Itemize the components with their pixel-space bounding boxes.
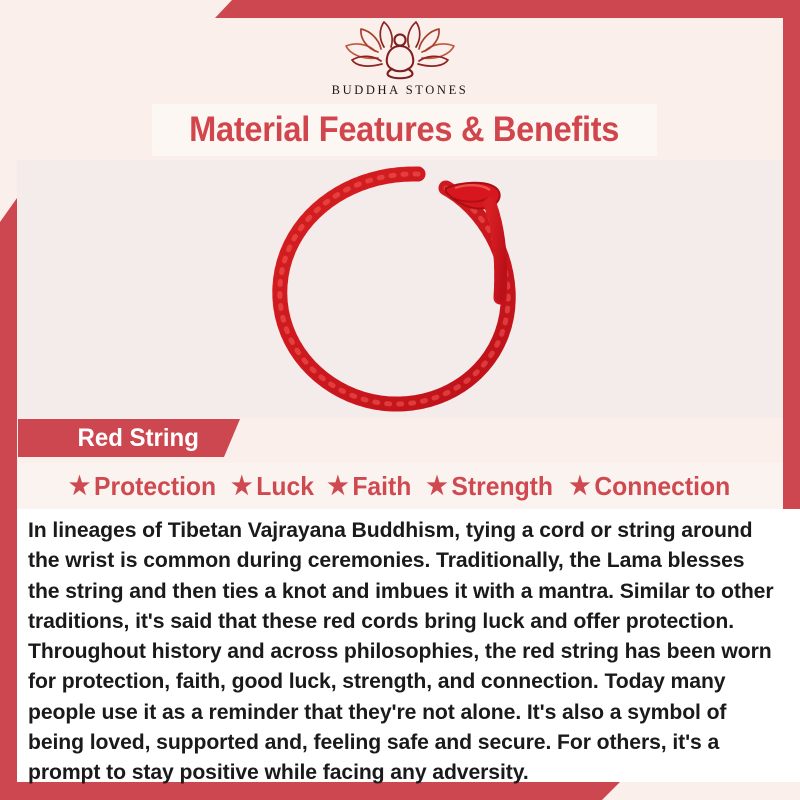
star-icon: ★ [328, 474, 349, 499]
description-panel: In lineages of Tibetan Vajrayana Buddhis… [17, 509, 800, 782]
benefit-item-4: ★ Connection [570, 471, 731, 502]
star-icon: ★ [570, 474, 591, 499]
infographic-page: BUDDHA STONES Material Features & Benefi… [0, 0, 800, 800]
benefit-label: Strength [451, 471, 553, 502]
brand-header: BUDDHA STONES [17, 18, 783, 102]
benefit-item-3: ★ Strength [426, 471, 553, 502]
star-icon: ★ [69, 474, 90, 499]
brand-name: BUDDHA STONES [332, 83, 469, 98]
product-name: Red String [78, 424, 199, 453]
star-icon: ★ [231, 474, 252, 499]
frame-bar-left [0, 198, 17, 800]
star-icon: ★ [426, 474, 447, 499]
benefit-label: Luck [257, 471, 315, 502]
lotus-meditation-icon [334, 18, 466, 82]
benefit-label: Faith [353, 471, 412, 502]
description-text: In lineages of Tibetan Vajrayana Buddhis… [28, 515, 775, 788]
benefit-item-1: ★ Luck [231, 471, 314, 502]
product-name-banner: Red String [18, 419, 240, 457]
page-title: Material Features & Benefits [190, 110, 620, 150]
product-image [17, 160, 783, 418]
frame-bar-top [215, 0, 800, 18]
benefit-label: Connection [595, 471, 731, 502]
benefit-label: Protection [94, 471, 216, 502]
title-band: Material Features & Benefits [152, 104, 657, 156]
red-string-bracelet-illustration [250, 160, 550, 418]
benefit-item-0: ★ Protection [69, 471, 216, 502]
benefit-item-2: ★ Faith [328, 471, 412, 502]
benefits-row: ★ Protection ★ Luck ★ Faith ★ Strength ★… [17, 463, 783, 509]
